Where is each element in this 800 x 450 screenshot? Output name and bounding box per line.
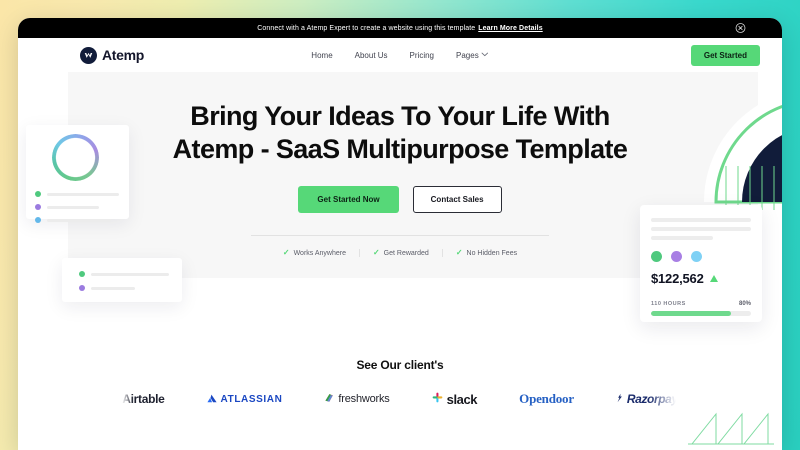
navbar: Atemp Home About Us Pricing Pages <box>18 38 782 72</box>
atlassian-mark-icon <box>207 390 217 408</box>
skeleton-line <box>651 218 751 222</box>
nav-link-pages[interactable]: Pages <box>456 51 489 60</box>
nav-link-about-us-label: About Us <box>355 51 388 60</box>
client-logo-label: Opendoor <box>519 391 574 407</box>
client-logo-label: slack <box>447 392 478 407</box>
legend-bar <box>47 206 99 209</box>
legend-bar <box>47 219 111 222</box>
clients-title: See Our client's <box>18 358 782 372</box>
client-logo-slack: slack <box>432 390 478 408</box>
category-dot <box>651 251 662 262</box>
brand-logo[interactable]: Atemp <box>80 47 144 64</box>
nav-link-pricing[interactable]: Pricing <box>410 51 434 60</box>
stat-amount-row: $122,562 <box>651 271 751 286</box>
slack-mark-icon <box>432 390 443 408</box>
stat-meta: 110 HOURS 80% <box>651 301 751 307</box>
donut-chart-icon <box>52 134 99 181</box>
chevron-down-icon <box>482 52 489 59</box>
client-logo-freshworks: freshworks <box>324 390 389 408</box>
check-icon: ✓ <box>283 249 290 257</box>
hero-divider <box>251 235 549 236</box>
hero-title: Bring Your Ideas To Your Life With Atemp… <box>170 100 630 166</box>
skeleton-line <box>651 227 751 231</box>
site-frame: Connect with a Atemp Expert to create a … <box>18 18 782 450</box>
client-logo-atlassian: ATLASSIAN <box>207 390 283 408</box>
feature-label: Works Anywhere <box>294 250 346 257</box>
hero-section: $122,562 110 HOURS 80% Bring Your Ideas … <box>18 72 782 352</box>
atemp-logo-icon <box>80 47 97 64</box>
category-dots <box>651 251 751 262</box>
progress-fill <box>651 311 731 316</box>
client-logo-razorpay: Razorpay <box>616 390 678 408</box>
client-logo-label: freshworks <box>338 393 389 405</box>
hero-cta-group: Get Started Now Contact Sales <box>298 186 501 213</box>
legend-row <box>35 217 119 223</box>
feature-works-anywhere: ✓ Works Anywhere <box>270 249 359 257</box>
client-logo-opendoor: Opendoor <box>519 391 574 407</box>
brand-name: Atemp <box>102 47 144 63</box>
legend-row <box>79 271 182 277</box>
legend-dot <box>79 271 85 277</box>
nav-links: Home About Us Pricing Pages <box>311 51 488 60</box>
hours-label: 110 HOURS <box>651 301 686 307</box>
feature-label: Get Rewarded <box>384 250 429 257</box>
skeleton-line <box>651 236 713 240</box>
legend-dot <box>79 285 85 291</box>
nav-link-home-label: Home <box>311 51 332 60</box>
client-logo-airtable: Airtable <box>122 392 164 406</box>
razorpay-mark-icon <box>616 390 623 408</box>
nav-link-pages-label: Pages <box>456 51 479 60</box>
legend-dot <box>35 191 41 197</box>
triangle-up-icon <box>710 275 718 282</box>
legend-row <box>79 285 182 291</box>
check-icon: ✓ <box>373 249 380 257</box>
nav-link-home[interactable]: Home <box>311 51 332 60</box>
announcement-bar: Connect with a Atemp Expert to create a … <box>18 18 782 38</box>
feature-no-hidden-fees: ✓ No Hidden Fees <box>442 249 530 257</box>
feature-get-rewarded: ✓ Get Rewarded <box>359 249 442 257</box>
client-logo-label: Razorpay <box>627 392 678 406</box>
page-root: Connect with a Atemp Expert to create a … <box>0 0 800 450</box>
legend-bar <box>47 193 119 196</box>
close-circle-icon[interactable] <box>735 23 746 34</box>
donut-stats-card <box>26 125 129 219</box>
client-logo-label: ATLASSIAN <box>221 394 283 405</box>
legend-row <box>35 204 119 210</box>
check-icon: ✓ <box>456 249 463 257</box>
stat-amount: $122,562 <box>651 271 704 286</box>
get-started-now-button[interactable]: Get Started Now <box>298 186 398 213</box>
client-logo-label: Airtable <box>122 392 164 406</box>
legend-dot <box>35 204 41 210</box>
legend-bar <box>91 287 135 290</box>
category-dot <box>671 251 682 262</box>
announcement-text: Connect with a Atemp Expert to create a … <box>257 25 475 32</box>
donut-legend <box>35 191 119 223</box>
revenue-stats-card: $122,562 110 HOURS 80% <box>640 205 762 322</box>
nav-link-about-us[interactable]: About Us <box>355 51 388 60</box>
clients-section: See Our client's Airtable ATLASSIAN <box>18 352 782 408</box>
learn-more-link[interactable]: Learn More Details <box>478 25 542 32</box>
hero-feature-list: ✓ Works Anywhere ✓ Get Rewarded ✓ No Hid… <box>270 249 530 257</box>
nav-link-pricing-label: Pricing <box>410 51 434 60</box>
legend-dot <box>35 217 41 223</box>
legend-row <box>35 191 119 197</box>
progress-track <box>651 311 751 316</box>
list-card <box>62 258 182 302</box>
contact-sales-button[interactable]: Contact Sales <box>413 186 502 213</box>
category-dot <box>691 251 702 262</box>
client-logo-row: Airtable ATLASSIAN <box>18 390 782 408</box>
percent-label: 80% <box>739 301 751 307</box>
freshworks-mark-icon <box>324 390 334 408</box>
legend-bar <box>91 273 169 276</box>
navbar-get-started-button[interactable]: Get Started <box>691 45 760 66</box>
feature-label: No Hidden Fees <box>467 250 518 257</box>
